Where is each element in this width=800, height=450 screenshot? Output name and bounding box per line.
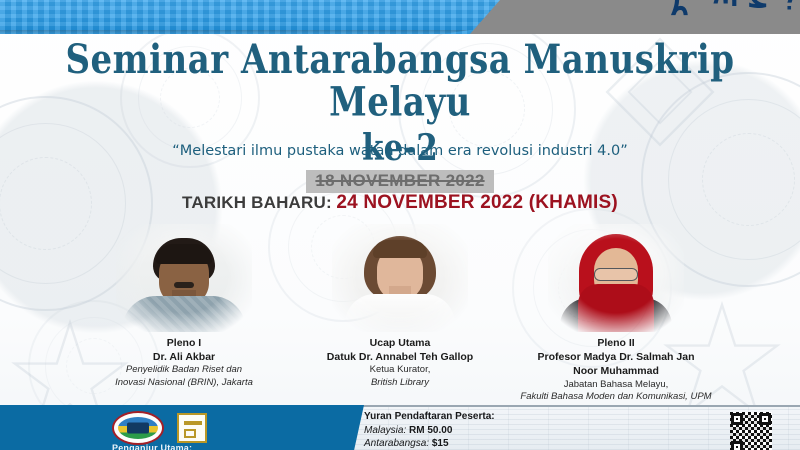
new-date-row: TARIKH BAHARU: 24 NOVEMBER 2022 (KHAMIS) (0, 192, 800, 214)
photo-body (122, 296, 246, 332)
old-date-row: 18 NOVEMBER 2022 (0, 170, 800, 193)
fee-malaysia-row: Malaysia: RM 50.00 (364, 424, 583, 438)
speaker-photo-3 (548, 224, 684, 332)
top-banner: ز ج س ٢ (0, 0, 800, 34)
old-date-strikethrough: 18 NOVEMBER 2022 (306, 170, 493, 193)
speaker-affiliation-1-line2: Inovasi Nasional (BRIN), Jakarta (76, 377, 292, 390)
fee-international-value: $15 (432, 438, 449, 449)
photo-shawl (578, 284, 654, 332)
fee-international-row: Antarabangsa: $15 (364, 437, 583, 450)
speaker-photo-2 (332, 224, 468, 332)
speaker-name-1: Dr. Ali Akbar (76, 350, 292, 364)
new-date-label: TARIKH BAHARU: (182, 193, 332, 212)
fee-malaysia-label: Malaysia: (364, 425, 406, 436)
seminar-title: Seminar Antarabangsa Manuskrip Melayu (0, 40, 800, 124)
speaker-role-2: Ucap Utama (292, 336, 508, 350)
speaker-role-3: Pleno II (508, 336, 724, 350)
speaker-affiliation-3-line2: Fakulti Bahasa Moden dan Komunikasi, UPM (508, 391, 724, 404)
top-banner-cut-off-text: ز ج س ٢ (670, 0, 794, 24)
speaker-photo-1 (116, 224, 252, 332)
photo-hair-front (373, 240, 427, 258)
logo-manuscript-icon (177, 413, 207, 443)
speaker-affiliation-3-line1: Jabatan Bahasa Melayu, (508, 379, 724, 392)
organiser-caption: Penganjur Utama: (112, 443, 192, 450)
speaker-list: Pleno I Dr. Ali Akbar Penyelidik Badan R… (0, 224, 800, 404)
photo-moustache (174, 282, 194, 288)
fee-international-label: Antarabangsa: (364, 438, 429, 449)
poster-root: ز ج س ٢ Seminar Antarabangsa Manuskrip M… (0, 0, 800, 450)
speaker-role-1: Pleno I (76, 336, 292, 350)
speaker-affiliation-1-line1: Penyelidik Badan Riset dan (76, 364, 292, 377)
photo-glasses (594, 268, 638, 281)
speaker-affiliation-2-line2: British Library (292, 377, 508, 390)
qr-finder-top-right (759, 413, 771, 425)
registration-qr-code[interactable] (730, 412, 772, 450)
speaker-name-3: Profesor Madya Dr. Salmah Jan (508, 350, 724, 364)
speaker-card-3: Pleno II Profesor Madya Dr. Salmah Jan N… (508, 224, 724, 404)
organiser-logos (112, 411, 207, 445)
speaker-card-1: Pleno I Dr. Ali Akbar Penyelidik Badan R… (76, 224, 292, 390)
photo-hair-front (156, 244, 212, 264)
registration-fee-block: Yuran Pendaftaran Peserta: Malaysia: RM … (364, 410, 583, 450)
speaker-card-2: Ucap Utama Datuk Dr. Annabel Teh Gallop … (292, 224, 508, 390)
top-banner-shadow (0, 30, 470, 34)
footer-divider (348, 405, 800, 407)
seminar-theme: “Melestari ilmu pustaka watan dalam era … (0, 143, 800, 159)
fee-heading: Yuran Pendaftaran Peserta: (364, 410, 583, 424)
logo-seal-icon (112, 411, 164, 445)
footer-bar: Penganjur Utama: Yuran Pendaftaran Peser… (0, 405, 800, 450)
speaker-name-3-line2: Noor Muhammad (508, 364, 724, 378)
new-date-value: 24 NOVEMBER 2022 (KHAMIS) (336, 192, 618, 213)
speaker-name-2: Datuk Dr. Annabel Teh Gallop (292, 350, 508, 364)
speaker-affiliation-2-line1: Ketua Kurator, (292, 364, 508, 377)
photo-body (345, 294, 455, 332)
fee-malaysia-value: RM 50.00 (409, 425, 452, 436)
qr-finder-bottom-left (731, 441, 743, 450)
top-banner-blue-stripe (0, 0, 500, 34)
qr-finder-top-left (731, 413, 743, 425)
